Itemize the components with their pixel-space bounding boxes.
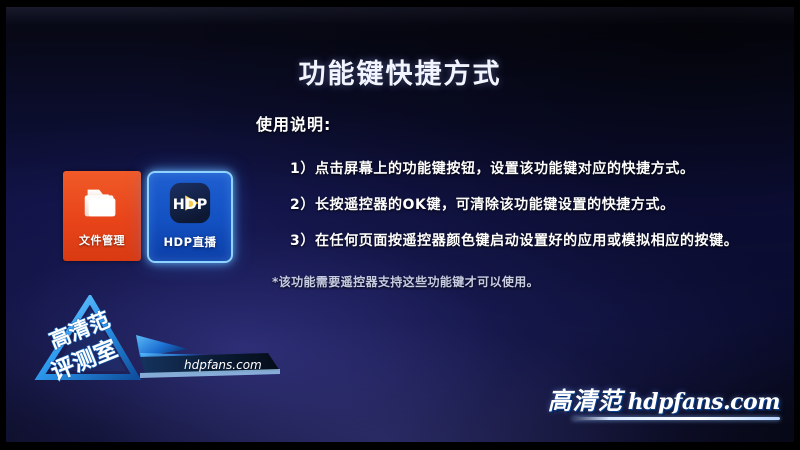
instructions-panel: 使用说明: 1）点击屏幕上的功能键按钮，设置该功能键对应的快捷方式。 2）长按遥… xyxy=(256,111,794,290)
watermark-underline xyxy=(572,417,780,420)
instructions-heading: 使用说明: xyxy=(256,111,794,135)
instructions-footnote: *该功能需要遥控器支持这些功能键才可以使用。 xyxy=(256,273,794,290)
app-tile-label: HDP直播 xyxy=(163,234,216,250)
app-tile-hdp-live[interactable]: HDP HDP直播 xyxy=(147,171,233,263)
folder-icon xyxy=(79,180,125,226)
watermark-cn-text: 高清范 xyxy=(548,389,623,413)
instruction-item: 1）点击屏幕上的功能键按钮，设置该功能键对应的快捷方式。 xyxy=(290,151,794,187)
studio-logo-site: hdpfans.com xyxy=(184,358,262,372)
app-background: 功能键快捷方式 xyxy=(6,7,794,442)
hdp-logo-icon: HDP xyxy=(167,180,213,226)
site-watermark: 高清范 hdpfans.com xyxy=(548,389,780,420)
watermark-site-text: hdpfans.com xyxy=(628,391,780,413)
instruction-item: 3）在任何页面按遥控器颜色键启动设置好的应用或模拟相应的按键。 xyxy=(290,223,794,259)
app-tile-label: 文件管理 xyxy=(79,232,125,248)
tv-screen: 功能键快捷方式 xyxy=(0,0,800,450)
app-tile-row: 文件管理 xyxy=(63,171,233,263)
hdp-logo-text: HDP xyxy=(173,197,207,213)
instructions-list: 1）点击屏幕上的功能键按钮，设置该功能键对应的快捷方式。 2）长按遥控器的OK键… xyxy=(256,151,794,259)
hdpfans-studio-logo: hdpfans.com 高清范 评测室 xyxy=(28,295,303,395)
app-tile-file-manager[interactable]: 文件管理 xyxy=(63,171,141,261)
page-title: 功能键快捷方式 xyxy=(6,52,794,91)
instruction-item: 2）长按遥控器的OK键，可清除该功能键设置的快捷方式。 xyxy=(290,187,794,223)
